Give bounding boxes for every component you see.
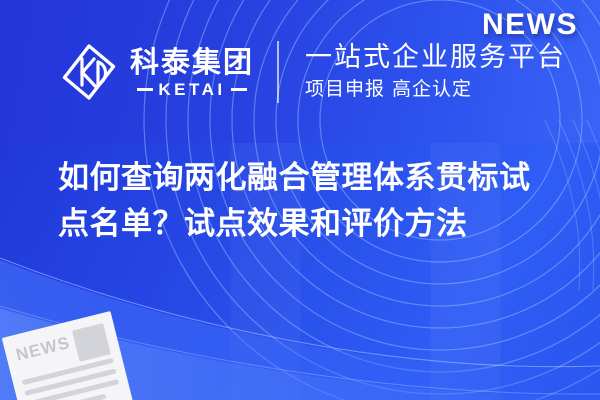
article-title: 如何查询两化融合管理体系贯标试 点名单？试点效果和评价方法 <box>58 155 568 247</box>
horizontal-dash-icon-left <box>137 88 153 91</box>
banner-header: 科泰集团 KETAI 一站式企业服务平台 项目申报 高企认定 NEWS <box>0 0 600 143</box>
tagline-main: 一站式企业服务平台 <box>305 42 566 74</box>
logo-company-name-en: KETAI <box>158 81 225 98</box>
company-logo[interactable]: 科泰集团 KETAI <box>58 41 254 103</box>
article-title-line-1: 如何查询两化融合管理体系贯标试 <box>58 155 568 201</box>
horizontal-dash-icon-right <box>231 88 247 91</box>
article-title-line-2: 点名单？试点效果和评价方法 <box>58 201 568 247</box>
ketai-diamond-kd-logo-icon <box>58 41 120 103</box>
logo-company-name-cn: 科泰集团 <box>130 47 254 77</box>
tagline-block: 一站式企业服务平台 项目申报 高企认定 <box>305 42 566 102</box>
tagline-sub: 项目申报 高企认定 <box>305 77 566 102</box>
news-label: NEWS <box>482 10 578 40</box>
logo-en-row: KETAI <box>130 81 254 98</box>
logo-wordmark: 科泰集团 KETAI <box>130 47 254 97</box>
news-banner: 科泰集团 KETAI 一站式企业服务平台 项目申报 高企认定 NEWS 如何查询… <box>0 0 600 400</box>
vertical-divider-icon <box>277 41 279 103</box>
